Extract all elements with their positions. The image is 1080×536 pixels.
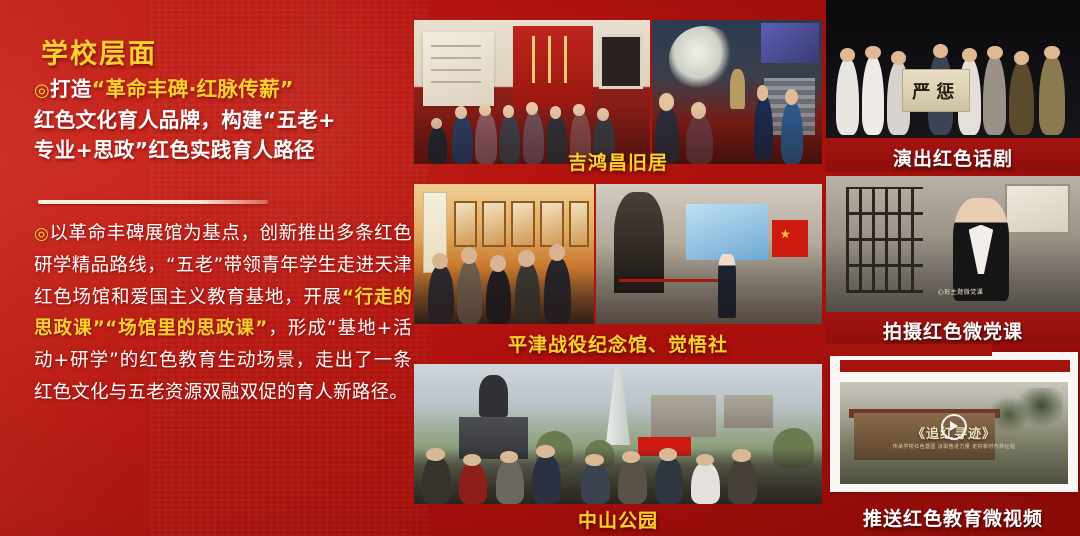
photo-red-drama: 严惩 xyxy=(826,0,1080,138)
photo-grid: 吉鸿昌旧居 严惩 xyxy=(412,0,1080,536)
video-subtitle: 传承学校红色基因 汲取奋进力量 走好新时代新征程 xyxy=(840,443,1068,450)
play-icon[interactable] xyxy=(941,414,967,440)
caption-pingjin: 平津战役纪念馆、觉悟社 xyxy=(414,330,822,357)
photo-image xyxy=(596,184,822,324)
photo-zhongshan-park xyxy=(414,364,822,504)
presenter-figure xyxy=(953,198,1009,301)
video-overlay-text: 心形主题微党课 xyxy=(938,287,984,296)
photo-micro-party-class: 心形主题微党课 xyxy=(826,176,1080,312)
photo-gallery-corridor xyxy=(414,184,594,324)
photo-courtyard-lecture xyxy=(596,184,822,324)
monument-obelisk xyxy=(606,367,630,445)
caption-jihongchang: 吉鸿昌旧居 xyxy=(414,148,822,175)
photo-image xyxy=(652,20,822,164)
drama-banner-text: 严惩 xyxy=(903,70,969,111)
ring-bullet-icon-2: ◎ xyxy=(34,224,49,244)
iron-gate xyxy=(846,187,922,293)
drama-banner-prop: 严惩 xyxy=(902,69,970,112)
caption-microvideo: 推送红色教育微视频 xyxy=(826,504,1080,531)
photo-image xyxy=(414,364,822,504)
subtitle-line3: 专业+思政”红色实践育人路径 xyxy=(34,138,315,162)
subtitle-line2: 红色文化育人品牌，构建“五老+ xyxy=(34,108,336,132)
photo-jihongchang-hall xyxy=(414,20,650,164)
card-top-bar-2 xyxy=(840,360,1070,372)
subtitle-highlight: “革命丰碑·红脉传薪” xyxy=(92,77,294,101)
video-thumbnail[interactable]: 《追红寻迹》 传承学校红色基因 汲取奋进力量 走好新时代新征程 xyxy=(840,382,1068,484)
card-top-bar-1 xyxy=(822,344,992,356)
sun-yatsen-statue xyxy=(479,375,508,417)
slide-canvas: 学校层面 ◎打造“革命丰碑·红脉传薪” 红色文化育人品牌，构建“五老+ 专业+思… xyxy=(0,0,1080,536)
page-title: 学校层面 xyxy=(41,32,157,71)
ring-bullet-icon: ◎ xyxy=(34,80,50,101)
photo-image: 严惩 xyxy=(826,0,1080,138)
photo-image xyxy=(414,20,650,164)
caption-drama: 演出红色话剧 xyxy=(826,144,1080,171)
photo-memorial-exhibit xyxy=(652,20,822,164)
body-paragraph: ◎以革命丰碑展馆为基点，创新推出多条红色研学精品路线，“五老”带领青年学生走进天… xyxy=(34,218,412,409)
subtitle-lead: 打造 xyxy=(50,77,92,101)
subtitle-block: ◎打造“革命丰碑·红脉传薪” 红色文化育人品牌，构建“五老+ 专业+思政”红色实… xyxy=(34,74,414,165)
caption-microclass: 拍摄红色微党课 xyxy=(826,317,1080,344)
photo-image xyxy=(414,184,594,324)
text-panel: 学校层面 ◎打造“革命丰碑·红脉传薪” 红色文化育人品牌，构建“五老+ 专业+思… xyxy=(0,0,412,536)
caption-zhongshan: 中山公园 xyxy=(414,506,822,533)
photo-image: 心形主题微党课 xyxy=(826,176,1080,312)
video-article-card[interactable]: 《追红寻迹》 传承学校红色基因 汲取奋进力量 走好新时代新征程 xyxy=(830,352,1078,492)
divider-rule xyxy=(38,200,268,204)
wall-plaque xyxy=(1005,184,1070,234)
